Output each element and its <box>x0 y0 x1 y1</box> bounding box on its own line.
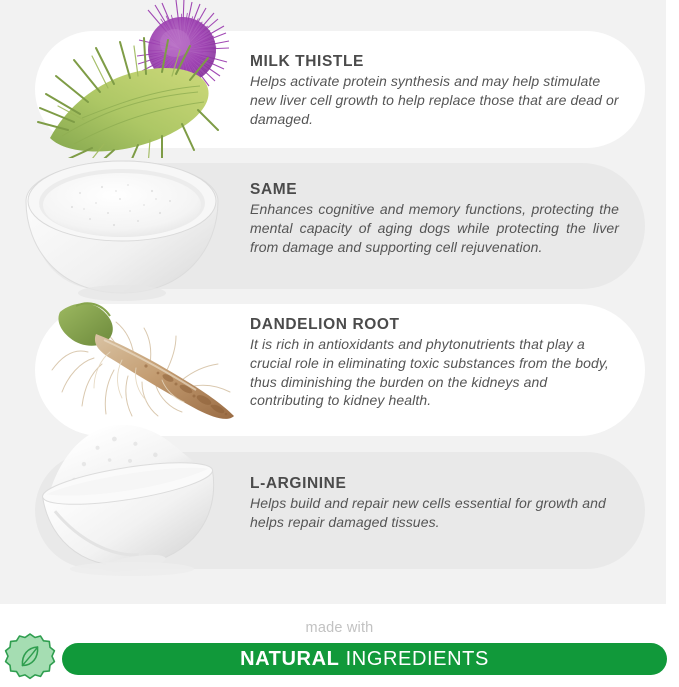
ingredient-title: DANDELION ROOT <box>250 315 619 334</box>
ingredient-description: Helps build and repair new cells essenti… <box>250 494 619 531</box>
ingredient-card-text: SAMe Enhances cognitive and memory funct… <box>250 180 619 256</box>
ingredient-card-milk-thistle: MILK THISTLE Helps activate protein synt… <box>35 31 645 148</box>
ingredients-infographic: MILK THISTLE Helps activate protein synt… <box>0 0 679 687</box>
ingredient-title: SAMe <box>250 180 619 199</box>
ingredient-title: L-ARGININE <box>250 474 619 493</box>
banner-label: NATURAL INGREDIENTS <box>62 643 667 675</box>
ingredient-card-l-arginine: L-ARGININE Helps build and repair new ce… <box>35 452 645 569</box>
footer: made with NATURAL INGREDIENTS <box>0 604 679 687</box>
ingredient-title: MILK THISTLE <box>250 52 619 71</box>
banner-word-natural: NATURAL <box>240 648 339 670</box>
ingredient-card-same: SAMe Enhances cognitive and memory funct… <box>35 163 645 289</box>
ingredient-card-text: DANDELION ROOT It is rich in antioxidant… <box>250 315 619 410</box>
ingredient-description: Enhances cognitive and memory functions,… <box>250 200 619 256</box>
banner-word-ingredients: INGREDIENTS <box>346 648 489 670</box>
leaf-badge-icon <box>4 631 56 683</box>
ingredient-card-dandelion-root: DANDELION ROOT It is rich in antioxidant… <box>35 304 645 436</box>
made-with-label: made with <box>0 620 679 636</box>
ingredient-description: It is rich in antioxidants and phytonutr… <box>250 335 619 409</box>
ingredient-card-text: MILK THISTLE Helps activate protein synt… <box>250 52 619 128</box>
natural-ingredients-banner: NATURAL INGREDIENTS <box>62 643 667 675</box>
ingredient-card-text: L-ARGININE Helps build and repair new ce… <box>250 474 619 532</box>
ingredient-description: Helps activate protein synthesis and may… <box>250 72 619 128</box>
